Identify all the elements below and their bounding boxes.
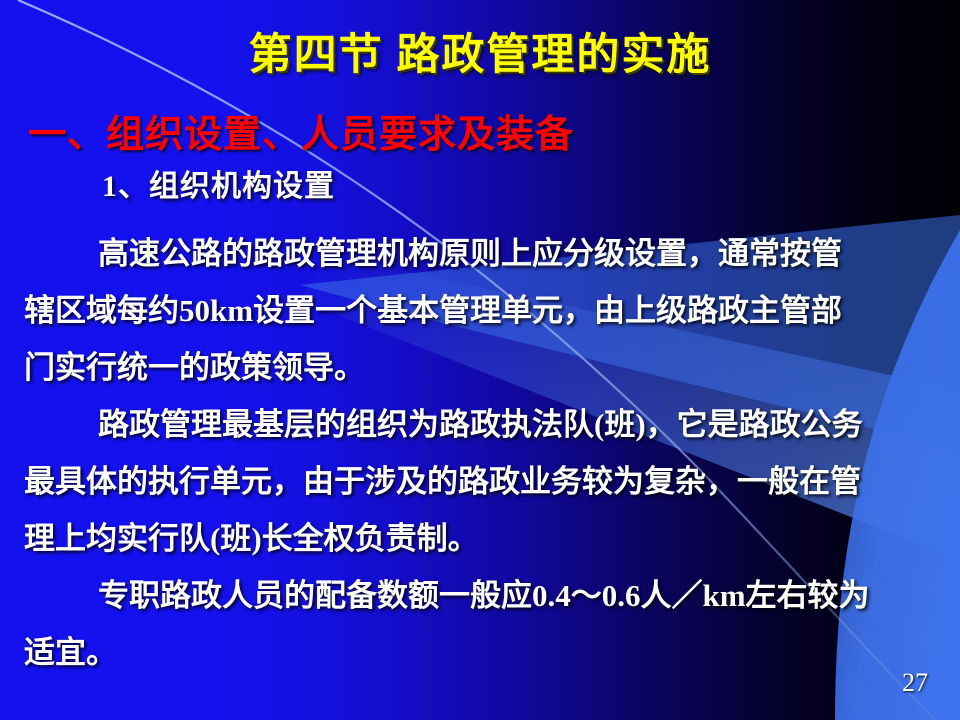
- body-line: 理上均实行队(班)长全权负责制。: [0, 523, 960, 554]
- body-line: 适宜。: [0, 637, 960, 668]
- presentation-slide: 第四节 路政管理的实施 一、组织设置、人员要求及装备 1、组织机构设置 高速公路…: [0, 0, 960, 720]
- body-line: 高速公路的路政管理机构原则上应分级设置，通常按管: [0, 238, 960, 269]
- body-line: 门实行统一的政策领导。: [0, 352, 960, 383]
- section-heading: 一、组织设置、人员要求及装备: [28, 116, 574, 154]
- slide-title: 第四节 路政管理的实施: [0, 34, 960, 77]
- body-line: 辖区域每约50km设置一个基本管理单元，由上级路政主管部: [0, 295, 960, 326]
- body-line: 专职路政人员的配备数额一般应0.4～0.6人／km左右较为: [0, 580, 960, 611]
- body-line: 路政管理最基层的组织为路政执法队(班)，它是路政公务: [0, 409, 960, 440]
- sub-heading: 1、组织机构设置: [102, 172, 335, 202]
- page-number: 27: [902, 668, 928, 698]
- body-line: 最具体的执行单元，由于涉及的路政业务较为复杂，一般在管: [0, 466, 960, 497]
